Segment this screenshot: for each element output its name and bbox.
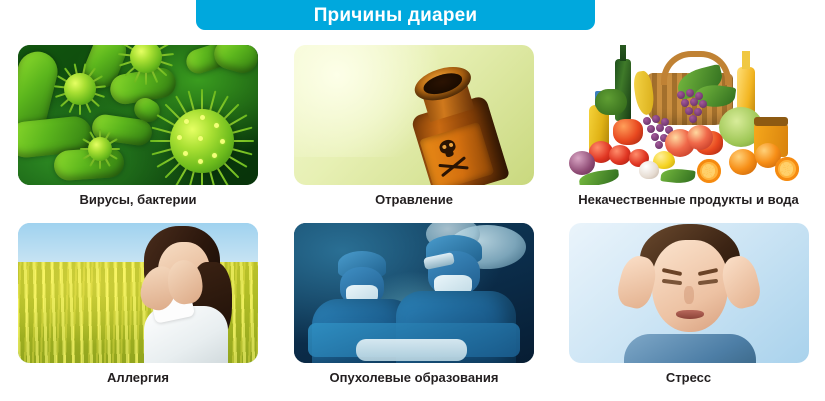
woman-with-headache-photo: [569, 223, 809, 363]
card-caption: Некачественные продукты и вода: [578, 193, 798, 207]
card-caption: Стресс: [666, 371, 711, 385]
card-caption: Аллергия: [107, 371, 169, 385]
poisoning-thumbnail[interactable]: [294, 45, 534, 185]
surgeons-operating-photo: [294, 223, 534, 363]
viruses-bacteria-thumbnail[interactable]: [18, 45, 258, 185]
card-caption: Вирусы, бактерии: [80, 193, 197, 207]
card-caption: Отравление: [375, 193, 453, 207]
woman-sneezing-in-field-photo: [18, 223, 258, 363]
sneezing-woman-figure: [128, 226, 240, 363]
stress-thumbnail[interactable]: [569, 223, 809, 363]
green-bacteria-and-viruses-photo: [18, 45, 258, 185]
broccoli: [595, 89, 627, 115]
card-allergy[interactable]: Аллергия: [0, 223, 276, 401]
card-viruses-bacteria[interactable]: Вирусы, бактерии: [0, 45, 276, 223]
causes-grid: Вирусы, бактерии: [0, 45, 825, 400]
infographic-page: Причины диареи: [0, 0, 825, 400]
surgery-thumbnail[interactable]: [294, 223, 534, 363]
food-thumbnail[interactable]: [569, 45, 809, 185]
assorted-food-produce-photo: [569, 45, 809, 185]
card-tumors[interactable]: Опухолевые образования: [276, 223, 552, 401]
card-poisoning[interactable]: Отравление: [276, 45, 552, 223]
card-stress[interactable]: Стресс: [552, 223, 825, 401]
poison-bottle-photo: [294, 45, 534, 185]
headache-woman-figure: [614, 226, 764, 363]
page-title: Причины диареи: [314, 6, 478, 25]
card-caption: Опухолевые образования: [330, 371, 499, 385]
title-banner: Причины диареи: [196, 0, 595, 30]
card-low-quality-food[interactable]: Некачественные продукты и вода: [552, 45, 825, 223]
patient-area: [356, 339, 466, 361]
allergy-thumbnail[interactable]: [18, 223, 258, 363]
